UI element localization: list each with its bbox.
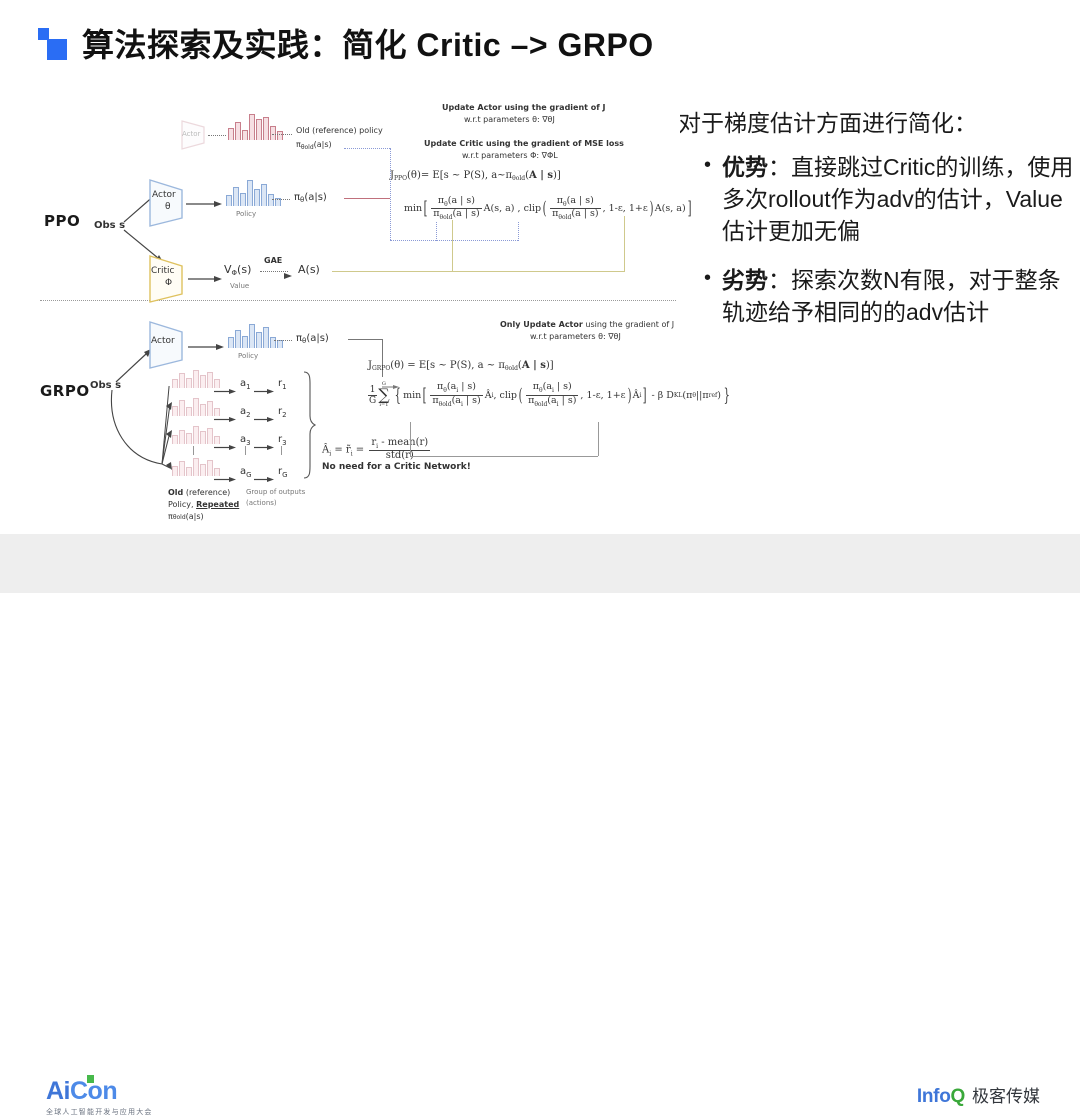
page-title: 算法探索及实践：简化 Critic –> GRPO <box>82 29 654 61</box>
advantage-connector-line <box>410 456 598 457</box>
ppo-advantage-term-2: A(s, a) <box>655 203 686 214</box>
no-critic-note: No need for a Critic Network! <box>322 462 471 472</box>
bullet-colon: ： <box>768 267 791 293</box>
obs-to-rollouts-fan <box>106 386 186 486</box>
bullet-term: 优势 <box>722 154 768 180</box>
blue-connector-vertical-left <box>390 148 392 240</box>
policy-caption: Policy <box>236 210 256 218</box>
old-policy-symbol: πθold(a|s) <box>296 140 332 151</box>
grpo-old-policy-symbol: πθold(a|s) <box>168 512 204 521</box>
blue-connector-horizontal <box>390 240 518 241</box>
rollout-reward: rG <box>278 466 288 479</box>
grpo-pi-theta-symbol: πθ(a|s) <box>296 333 329 345</box>
rollout-group-brace <box>300 370 316 480</box>
list-item: • 优势：直接跳过Critic的训练，使用多次rollout作为adv的估计，V… <box>704 151 1076 248</box>
grpo-policy-caption: Policy <box>238 352 258 360</box>
bullet-body: 优势：直接跳过Critic的训练，使用多次rollout作为adv的估计，Val… <box>722 151 1076 248</box>
advantage-connector-up-1 <box>410 422 411 456</box>
actor-to-policy-arrow <box>186 195 224 203</box>
value-caption: Value <box>230 282 249 290</box>
update-critic-note-1: Update Critic using the gradient of MSE … <box>424 139 624 148</box>
bullet-body: 劣势：探索次数N有限，对于整条轨迹给予相同的的adv估计 <box>722 264 1076 328</box>
blue-connector-vertical-right <box>518 222 520 241</box>
brand-square-icon <box>38 28 68 62</box>
grpo-old-policy-caption-1: Old (reference) <box>168 488 230 497</box>
grpo-old-policy-caption-2: Policy, Repeated <box>168 500 239 509</box>
critic-label: Critic <box>151 266 174 276</box>
olive-connector-2 <box>624 220 625 272</box>
olive-connector-1 <box>452 220 453 272</box>
grpo-pi-connector-h <box>348 339 382 340</box>
footer-bar: AiCon 全球人工智能开发与应用大会 InfoQ 极客传媒 <box>0 534 1080 593</box>
grpo-main-objective: 1 G G ∑ i=1 {min[πθ(ai | s)πθold(ai | s)… <box>368 382 732 408</box>
rollout-arrow <box>214 470 238 477</box>
grpo-policy-to-symbol-line <box>274 340 292 341</box>
ppo-clip-label: clip <box>524 203 541 214</box>
rollout-reward: r1 <box>278 378 287 391</box>
grpo-group-caption-1: Group of outputs <box>246 488 305 496</box>
action-to-reward-arrow <box>254 382 276 389</box>
critic-param-label: Φ <box>165 278 172 288</box>
blue-connector-vertical-mid <box>436 222 438 241</box>
rollout-ellipsis: | <box>192 446 195 456</box>
action-to-reward-arrow <box>254 470 276 477</box>
bullet-marker: • <box>704 151 722 248</box>
explanation-panel: 对于梯度估计方面进行简化： • 优势：直接跳过Critic的训练，使用多次rol… <box>678 108 1076 344</box>
infoq-wordmark: InfoQ <box>917 1087 965 1106</box>
slide-title-row: 算法探索及实践：简化 Critic –> GRPO <box>38 20 654 70</box>
panel-bullet-list: • 优势：直接跳过Critic的训练，使用多次rollout作为adv的估计，V… <box>678 151 1076 328</box>
ppo-section-label: PPO <box>44 212 80 230</box>
bullet-marker: • <box>704 264 722 328</box>
ppo-clip-objective: min[πθ(a | s)πθold(a | s)A(s, a) , clip(… <box>404 196 693 221</box>
ppo-objective-head: JPPO(θ)= E[s ~ P(S), a~πθold(A | s)] <box>390 170 561 182</box>
bullet-term: 劣势 <box>722 267 768 293</box>
ppo-grpo-diagram: PPO Obs s Actor Old (reference) policy π… <box>32 96 680 520</box>
rollout-reward: r2 <box>278 406 287 419</box>
advantage-connector-up-2 <box>598 422 599 456</box>
actor-param-label: θ <box>165 202 171 212</box>
only-update-note-2: w.r.t parameters θ: ∇θJ <box>530 332 621 341</box>
advantage-to-objective-connector <box>332 271 624 272</box>
only-update-note-1: Only Update Actor using the gradient of … <box>500 320 674 329</box>
advantage-symbol: A(s) <box>298 263 320 276</box>
rollout-action: a2 <box>240 406 251 419</box>
action-to-reward-arrow <box>254 410 276 417</box>
policy-to-symbol-line <box>272 199 290 200</box>
rollout-action: a1 <box>240 378 251 391</box>
critic-to-value-arrow <box>188 270 224 278</box>
gae-label: GAE <box>264 256 282 265</box>
bullet-colon: ： <box>768 154 791 180</box>
action-to-reward-arrow <box>254 438 276 445</box>
old-actor-to-hist-line <box>208 135 226 136</box>
grpo-min-label: min <box>403 390 421 401</box>
grpo-clip-label: clip <box>500 390 517 401</box>
ppo-min-label: min <box>404 203 422 214</box>
policy-histogram <box>226 180 281 206</box>
rollout-arrow <box>214 438 238 445</box>
infoq-cn-label: 极客传媒 <box>972 1088 1040 1105</box>
rollout-arrow <box>214 410 238 417</box>
rollout-action: aG <box>240 466 252 479</box>
actor-label: Actor <box>152 190 176 200</box>
grpo-group-caption-2: (actions) <box>246 499 277 507</box>
value-function-symbol: VΦ(s) <box>224 263 251 277</box>
ppo-advantage-term-1: A(s, a) , <box>484 203 521 214</box>
update-actor-note-2: w.r.t parameters θ: ∇θJ <box>464 115 555 124</box>
gae-arrowhead <box>284 267 294 275</box>
grpo-objective-head: JGRPO(θ) = E[s ~ P(S), a ~ πθold(A | s)] <box>368 360 554 372</box>
old-policy-histogram <box>228 114 283 140</box>
old-policy-note: Old (reference) policy <box>296 126 383 135</box>
policy-to-objective-connector <box>344 198 390 199</box>
aicon-green-dot-icon <box>87 1075 94 1083</box>
ppo-obs-label: Obs s <box>94 220 125 231</box>
old-policy-to-formula-connector <box>344 148 390 149</box>
old-actor-label: Actor <box>182 130 200 138</box>
aicon-wordmark: AiCon <box>46 1079 153 1104</box>
panel-lead-text: 对于梯度估计方面进行简化： <box>678 108 1076 139</box>
rollout-ellipsis: | <box>280 446 283 456</box>
old-hist-to-label-line <box>272 134 292 135</box>
grpo-actor-to-policy-arrow <box>188 338 226 346</box>
aicon-tagline: 全球人工智能开发与应用大会 <box>46 1107 153 1117</box>
update-actor-note-1: Update Actor using the gradient of J <box>442 103 606 112</box>
grpo-advantage-formula: Âi = r̃i = ri - mean(r)std(r) <box>322 438 432 462</box>
list-item: • 劣势：探索次数N有限，对于整条轨迹给予相同的的adv估计 <box>704 264 1076 328</box>
rollout-ellipsis: | <box>244 446 247 456</box>
update-critic-note-2: w.r.t parameters Φ: ∇ΦL <box>462 151 558 160</box>
pi-theta-symbol: πθ(a|s) <box>294 192 327 204</box>
section-divider <box>40 300 676 301</box>
infoq-logo: InfoQ 极客传媒 <box>917 1087 1040 1106</box>
rollout-arrow <box>214 382 238 389</box>
grpo-actor-label: Actor <box>151 336 175 346</box>
ppo-epsilon-term: , 1-ε, 1+ε <box>603 203 648 214</box>
grpo-policy-histogram <box>228 324 283 348</box>
grpo-epsilon-term: , 1-ε, 1+ε <box>580 390 625 401</box>
grpo-section-label: GRPO <box>40 382 90 400</box>
aicon-logo: AiCon 全球人工智能开发与应用大会 <box>46 1079 153 1117</box>
